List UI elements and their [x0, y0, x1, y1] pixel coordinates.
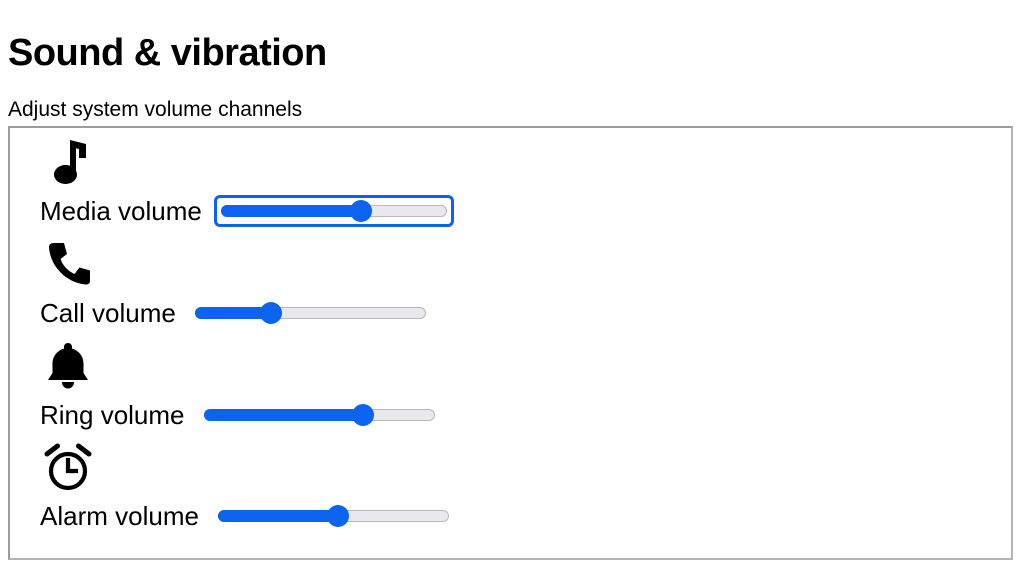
slider-media-volume[interactable] — [221, 204, 447, 218]
volume-control-ring: Ring volume — [40, 394, 442, 436]
volume-control-call: Call volume — [40, 292, 433, 334]
section-description: Adjust system volume channels — [8, 96, 302, 124]
volume-label-ring: Ring volume — [40, 400, 185, 430]
volume-label-media: Media volume — [40, 196, 202, 226]
slider-ring-volume[interactable] — [204, 408, 435, 422]
volume-row-media: Media volume — [10, 134, 1011, 236]
slider-thumb-alarm[interactable] — [327, 505, 349, 527]
slider-thumb-media[interactable] — [350, 200, 372, 222]
volume-row-ring: Ring volume — [10, 338, 1011, 440]
volume-control-media: Media volume — [40, 190, 454, 232]
volume-row-alarm: Alarm volume — [10, 439, 1011, 541]
slider-fill-media — [221, 205, 361, 217]
slider-thumb-call[interactable] — [260, 302, 282, 324]
volume-row-call: Call volume — [10, 236, 1011, 338]
volume-channels-group: Media volume Call volume — [8, 126, 1013, 560]
volume-label-call: Call volume — [40, 298, 176, 328]
phone-icon — [40, 238, 96, 290]
music-note-icon — [40, 136, 96, 188]
slider-focus-ring-alarm — [211, 500, 456, 532]
page-title: Sound & vibration — [8, 30, 327, 76]
slider-alarm-volume[interactable] — [218, 509, 449, 523]
slider-focus-ring-media — [214, 195, 454, 227]
volume-label-alarm: Alarm volume — [40, 501, 199, 531]
slider-fill-alarm — [218, 510, 338, 522]
slider-thumb-ring[interactable] — [352, 404, 374, 426]
sound-and-vibration-page: Sound & vibration Adjust system volume c… — [0, 0, 1024, 575]
volume-control-alarm: Alarm volume — [40, 495, 456, 537]
slider-focus-ring-ring — [197, 399, 442, 431]
slider-focus-ring-call — [188, 297, 433, 329]
slider-call-volume[interactable] — [195, 306, 426, 320]
bell-icon — [40, 340, 96, 392]
alarm-clock-icon — [40, 441, 96, 493]
slider-fill-ring — [204, 409, 363, 421]
